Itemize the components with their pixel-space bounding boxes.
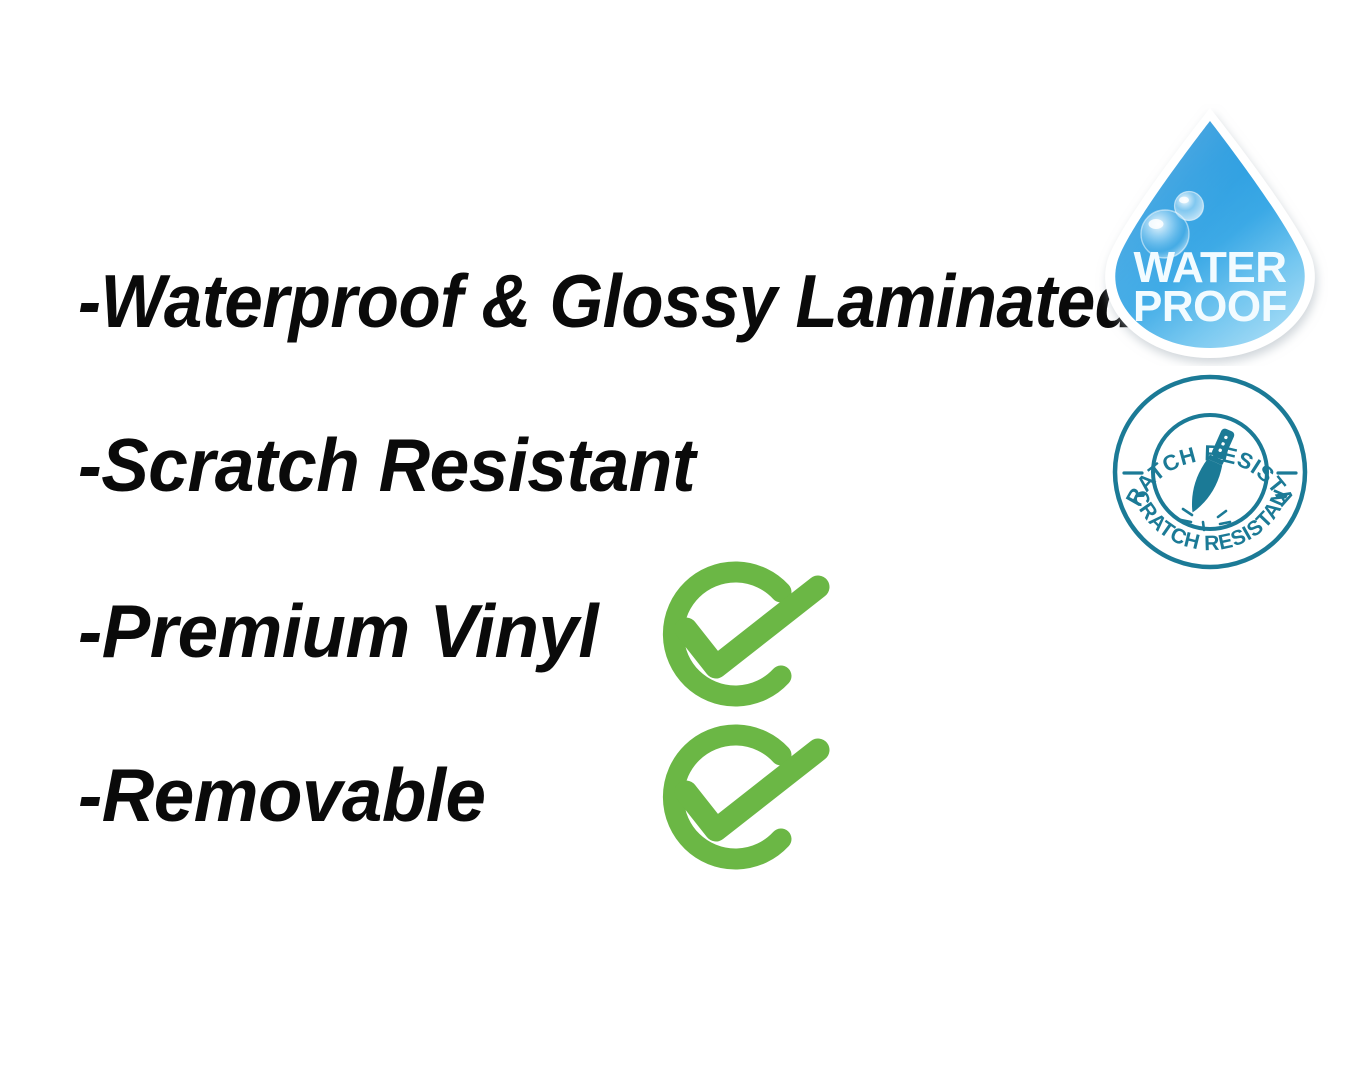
feature-graphic-canvas: -Waterproof & Glossy Laminated -Scratch … (0, 0, 1359, 1080)
feature-item-scratch-resistant: -Scratch Resistant (78, 422, 695, 508)
check-circle-premium-vinyl (640, 551, 836, 717)
feature-item-removable: -Removable (78, 752, 486, 838)
scratch-resistant-badge: SCRATCH RESISTANT SCRATCH RESISTANT (1100, 372, 1320, 572)
feature-list: -Waterproof & Glossy Laminated -Scratch … (0, 0, 1100, 1080)
check-mark-stroke (686, 750, 818, 830)
check-circle-removable (640, 714, 836, 880)
waterproof-badge: WATER PROOF (1092, 104, 1328, 366)
feature-item-premium-vinyl: -Premium Vinyl (78, 588, 598, 674)
check-mark-stroke (686, 587, 818, 667)
knife-icon (1183, 426, 1238, 516)
feature-item-waterproof: -Waterproof & Glossy Laminated (78, 258, 1136, 344)
waterproof-line2: PROOF (1133, 282, 1287, 331)
